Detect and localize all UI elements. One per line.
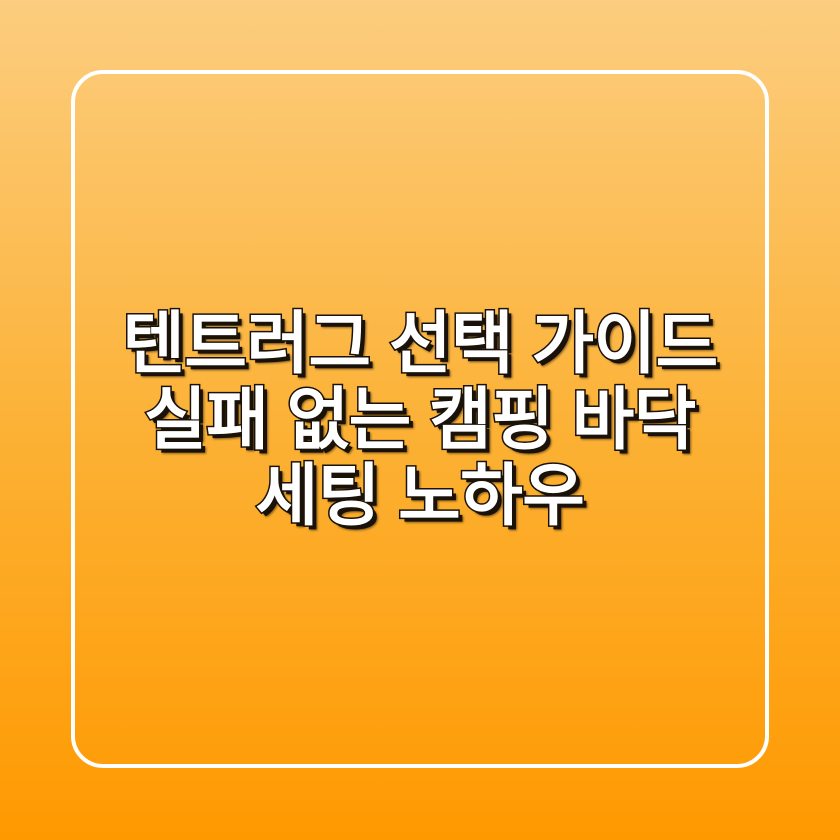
title-line-2: 실패 없는 캠핑 바닥 [144, 382, 696, 458]
title-line-3: 세팅 노하우 [256, 458, 585, 534]
title-line-1: 텐트러그 선택 가이드 [122, 306, 717, 382]
poster-canvas: 텐트러그 선택 가이드 실패 없는 캠핑 바닥 세팅 노하우 [0, 0, 840, 840]
title-block: 텐트러그 선택 가이드 실패 없는 캠핑 바닥 세팅 노하우 [0, 0, 840, 840]
